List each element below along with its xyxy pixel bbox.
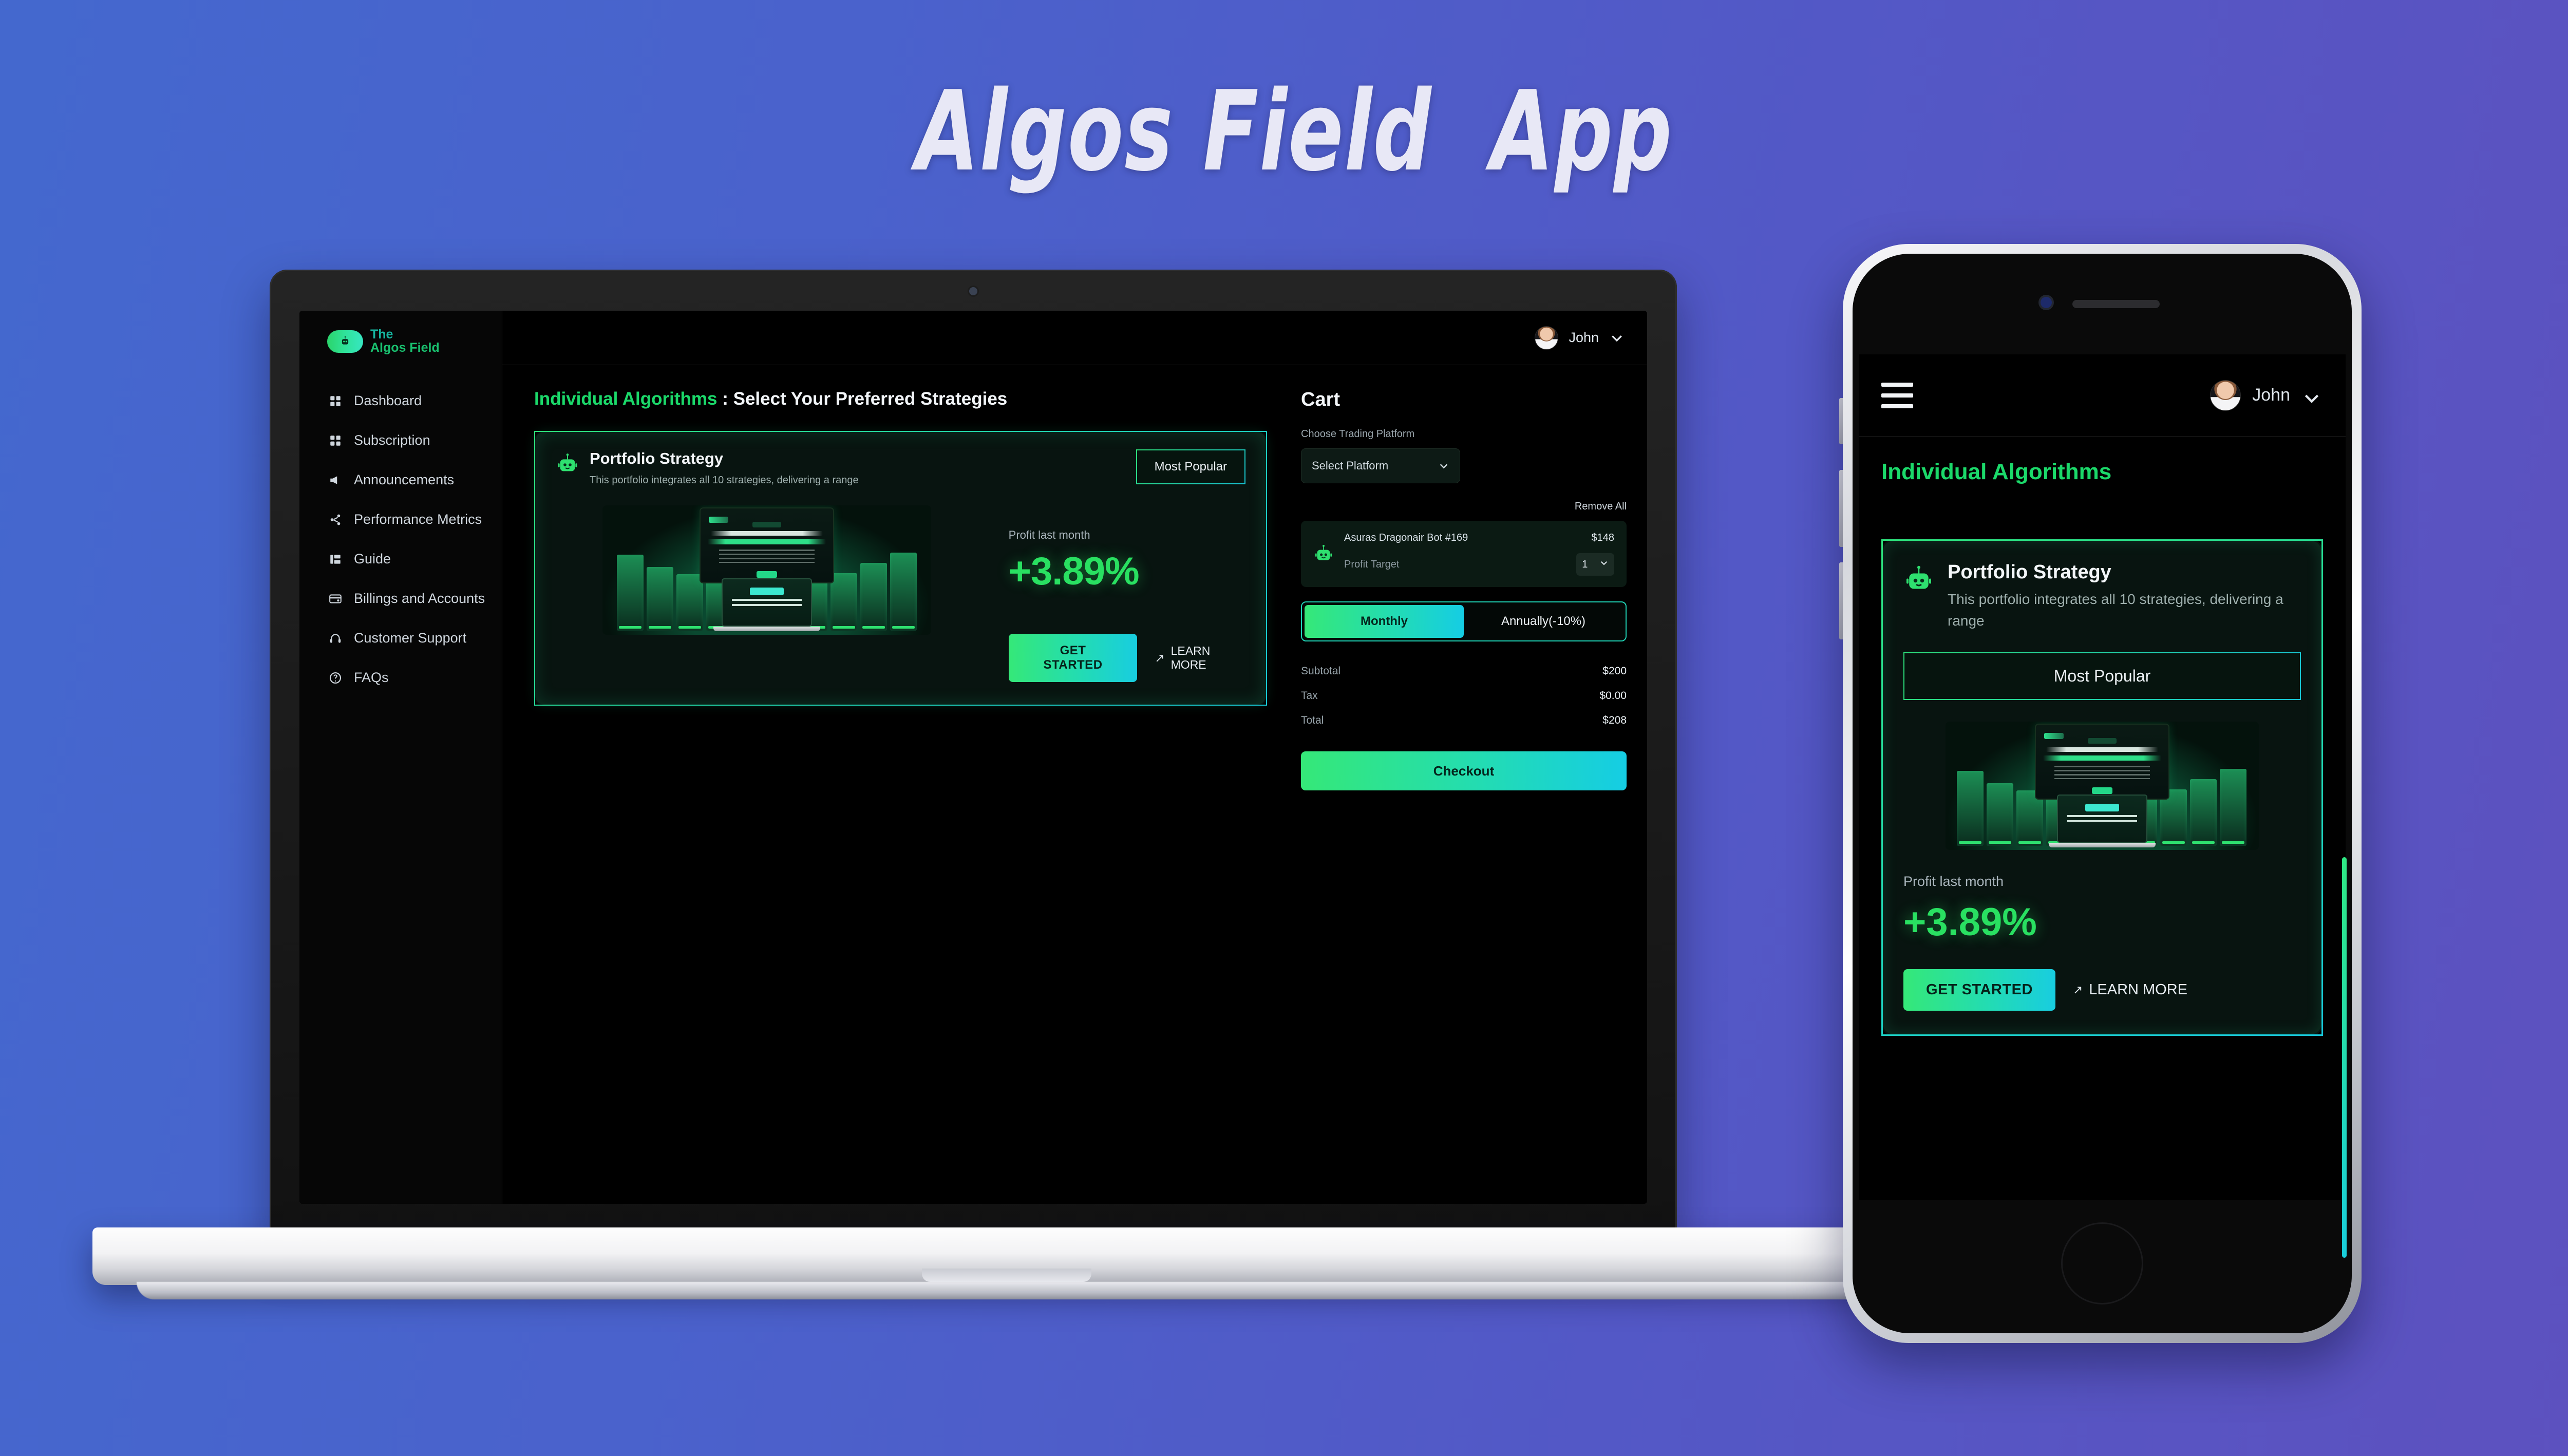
user-name: John <box>1569 330 1599 346</box>
sidebar-item-announcements[interactable]: Announcements <box>299 460 502 500</box>
robot-icon <box>327 330 363 353</box>
phone-mockup: John Individual Algorithms : Select Your… <box>1843 244 2362 1343</box>
strategy-card[interactable]: Portfolio Strategy This portfolio integr… <box>1881 539 2323 1036</box>
cart-item[interactable]: Asuras Dragonair Bot #169 $148 Profit Ta… <box>1301 521 1627 587</box>
strategy-card-header: Portfolio Strategy This portfolio integr… <box>556 449 978 488</box>
sidebar-item-label: Dashboard <box>354 393 422 409</box>
learn-more-link[interactable]: ↗ LEARN MORE <box>2073 981 2187 998</box>
topbar: John <box>502 311 1647 365</box>
sidebar-item-label: FAQs <box>354 670 389 686</box>
thumbnail-mini-laptop <box>2057 795 2147 843</box>
strategies-column: Individual Algorithms : Select Your Pref… <box>502 389 1288 1204</box>
cart-panel: Cart Choose Trading Platform Select Plat… <box>1288 389 1647 1204</box>
sidebar-item-label: Customer Support <box>354 630 466 646</box>
strategy-title: Portfolio Strategy <box>590 449 723 467</box>
robot-icon <box>1313 544 1334 564</box>
totals-block: Subtotal $200 Tax $0.00 Total $208 <box>1301 659 1627 733</box>
hamburger-menu-icon[interactable] <box>1881 383 1913 408</box>
sidebar-item-label: Billings and Accounts <box>354 591 485 607</box>
billing-cycle-toggle: Monthly Annually(-10%) <box>1301 601 1627 641</box>
main-content: John Individual Algorithms : Select Your… <box>502 311 1647 1204</box>
cta-row: GET STARTED ↗ LEARN MORE <box>1903 969 2301 1011</box>
avatar <box>2210 380 2241 411</box>
arrow-up-right-icon: ↗ <box>2073 983 2083 997</box>
get-started-button[interactable]: GET STARTED <box>1009 634 1138 682</box>
profit-value: +3.89% <box>1903 900 2301 944</box>
phone-body: John Individual Algorithms : Select Your… <box>1853 254 2352 1333</box>
platform-label: Choose Trading Platform <box>1301 428 1627 440</box>
mobile-body: Individual Algorithms : Select Your Pref… <box>1859 437 2346 1036</box>
table-row: Total $208 <box>1301 708 1627 733</box>
laptop-screen: The Algos Field Dashboard Subscription <box>299 311 1647 1204</box>
grid-icon <box>328 433 343 448</box>
thumbnail-mini-laptop <box>722 578 812 627</box>
page-heading: Individual Algorithms : Select Your Pref… <box>1881 457 2323 517</box>
brand-line-2: Algos Field <box>370 341 440 355</box>
cart-item-meta: Profit Target <box>1344 559 1399 571</box>
main-area: Individual Algorithms : Select Your Pref… <box>502 365 1647 1204</box>
grid-icon <box>328 394 343 408</box>
total-value: $208 <box>1602 714 1627 727</box>
laptop-mockup: The Algos Field Dashboard Subscription <box>92 270 1921 1340</box>
page-heading: Individual Algorithms : Select Your Pref… <box>534 389 1267 409</box>
mobile-topbar: John <box>1859 354 2346 437</box>
strategy-description: This portfolio integrates all 10 strateg… <box>1948 589 2301 632</box>
table-row: Tax $0.00 <box>1301 684 1627 708</box>
headset-icon <box>328 631 343 646</box>
laptop-lid: The Algos Field Dashboard Subscription <box>270 270 1677 1238</box>
cart-item-details: Asuras Dragonair Bot #169 $148 Profit Ta… <box>1344 532 1614 576</box>
platform-select-value: Select Platform <box>1312 459 1388 472</box>
brand-logo[interactable]: The Algos Field <box>299 324 502 354</box>
table-row: Subtotal $200 <box>1301 659 1627 684</box>
strategy-description: This portfolio integrates all 10 strateg… <box>590 473 859 488</box>
quantity-stepper[interactable]: 1 <box>1576 553 1614 576</box>
page-title: Algos Field App <box>233 67 2356 196</box>
strategy-thumbnail <box>1946 722 2259 850</box>
strategy-card-right: Most Popular Profit last month +3.89% GE… <box>988 449 1245 682</box>
laptop-camera-icon <box>969 287 977 295</box>
megaphone-icon <box>328 473 343 487</box>
avatar[interactable] <box>1535 326 1558 350</box>
total-key: Tax <box>1301 690 1318 702</box>
scrollbar[interactable] <box>2342 857 2347 1258</box>
robot-icon <box>556 452 579 476</box>
cart-item-row-top: Asuras Dragonair Bot #169 $148 <box>1344 532 1614 544</box>
sidebar-item-faqs[interactable]: FAQs <box>299 658 502 697</box>
sidebar-item-label: Announcements <box>354 472 454 488</box>
arrow-up-right-icon: ↗ <box>1155 651 1164 665</box>
learn-more-label: LEARN MORE <box>1171 644 1245 672</box>
chevron-down-icon <box>1438 460 1449 471</box>
learn-more-link[interactable]: ↗ LEARN MORE <box>1155 644 1245 672</box>
strategy-card-text: Portfolio Strategy This portfolio integr… <box>590 449 859 488</box>
sidebar-item-customer-support[interactable]: Customer Support <box>299 618 502 658</box>
sidebar-nav: Dashboard Subscription Announcements <box>299 381 502 697</box>
sidebar-item-guide[interactable]: Guide <box>299 539 502 579</box>
phone-mute-switch <box>1839 398 1843 444</box>
chevron-down-icon[interactable] <box>1609 330 1625 346</box>
profit-label: Profit last month <box>1009 528 1139 542</box>
billing-monthly-tab[interactable]: Monthly <box>1305 605 1464 638</box>
user-name: John <box>2252 385 2290 405</box>
mobile-user-menu[interactable]: John <box>2210 380 2317 411</box>
chevron-down-icon <box>1599 558 1609 571</box>
status-badge[interactable]: Most Popular <box>1903 652 2301 700</box>
phone-frame: John Individual Algorithms : Select Your… <box>1843 244 2362 1343</box>
card-icon <box>328 592 343 606</box>
page-heading-accent: Individual Algorithms <box>534 389 717 409</box>
sidebar: The Algos Field Dashboard Subscription <box>299 311 502 1204</box>
front-camera-icon <box>2041 297 2052 308</box>
profit-block: Profit last month +3.89% <box>1009 528 1139 594</box>
strategy-thumbnail <box>602 505 931 635</box>
layout-icon <box>328 552 343 566</box>
laptop-base-notch <box>922 1269 1091 1282</box>
status-badge[interactable]: Most Popular <box>1136 449 1245 484</box>
thumbnail-hero-screen <box>700 507 834 583</box>
page-heading-rest: : Select Your Preferred Strategies <box>717 389 1008 409</box>
chevron-down-icon <box>2301 388 2317 403</box>
profit-label: Profit last month <box>1903 874 2301 890</box>
page-heading-accent: Individual Algorithms <box>1881 459 2111 484</box>
sidebar-item-subscription[interactable]: Subscription <box>299 421 502 460</box>
thumbnail-hero-screen <box>2035 724 2169 800</box>
share-icon <box>328 513 343 527</box>
brand-text: The Algos Field <box>370 328 440 354</box>
brand-line-1: The <box>370 327 393 342</box>
get-started-button[interactable]: GET STARTED <box>1903 969 2055 1011</box>
quantity-value: 1 <box>1582 559 1588 571</box>
sidebar-item-label: Guide <box>354 551 391 567</box>
learn-more-label: LEARN MORE <box>2089 981 2187 998</box>
cart-item-name: Asuras Dragonair Bot #169 <box>1344 532 1468 544</box>
billing-annual-tab[interactable]: Annually(-10%) <box>1464 605 1623 638</box>
phone-top-bezel <box>1853 254 2352 354</box>
total-value: $200 <box>1602 665 1627 677</box>
total-key: Total <box>1301 714 1324 727</box>
sidebar-item-dashboard[interactable]: Dashboard <box>299 381 502 421</box>
cart-item-price: $148 <box>1592 532 1615 544</box>
laptop-foot <box>137 1282 1877 1299</box>
cart-item-row-bottom: Profit Target 1 <box>1344 553 1614 576</box>
cart-title: Cart <box>1301 389 1627 411</box>
robot-icon <box>1903 564 1934 595</box>
total-value: $0.00 <box>1599 690 1627 702</box>
profit-value: +3.89% <box>1009 549 1139 594</box>
earpiece-speaker-icon <box>2072 300 2160 308</box>
checkout-button[interactable]: Checkout <box>1301 751 1627 790</box>
cta-row: GET STARTED ↗ LEARN MORE <box>1009 634 1245 682</box>
total-key: Subtotal <box>1301 665 1340 677</box>
strategy-card-text: Portfolio Strategy This portfolio integr… <box>1948 561 2301 632</box>
question-circle-icon <box>328 671 343 685</box>
thumbnail-mini-laptop-base <box>713 627 820 631</box>
phone-volume-down-button <box>1839 562 1843 639</box>
sidebar-item-label: Performance Metrics <box>354 512 482 527</box>
strategy-title: Portfolio Strategy <box>1948 561 2111 583</box>
strategy-card[interactable]: Portfolio Strategy This portfolio integr… <box>534 431 1267 706</box>
laptop-base <box>92 1227 1921 1285</box>
sidebar-item-label: Subscription <box>354 432 430 448</box>
strategy-card-header: Portfolio Strategy This portfolio integr… <box>1903 561 2301 632</box>
thumbnail-mini-laptop-base <box>2049 843 2156 847</box>
sidebar-item-billings-and-accounts[interactable]: Billings and Accounts <box>299 579 502 618</box>
home-button[interactable] <box>2061 1222 2143 1304</box>
phone-volume-up-button <box>1839 470 1843 547</box>
phone-screen: John Individual Algorithms : Select Your… <box>1859 354 2346 1200</box>
strategy-card-left: Portfolio Strategy This portfolio integr… <box>556 449 978 682</box>
remove-all-button[interactable]: Remove All <box>1301 501 1627 513</box>
desktop-app: The Algos Field Dashboard Subscription <box>299 311 1647 1204</box>
platform-select[interactable]: Select Platform <box>1301 448 1460 483</box>
sidebar-item-performance-metrics[interactable]: Performance Metrics <box>299 500 502 539</box>
